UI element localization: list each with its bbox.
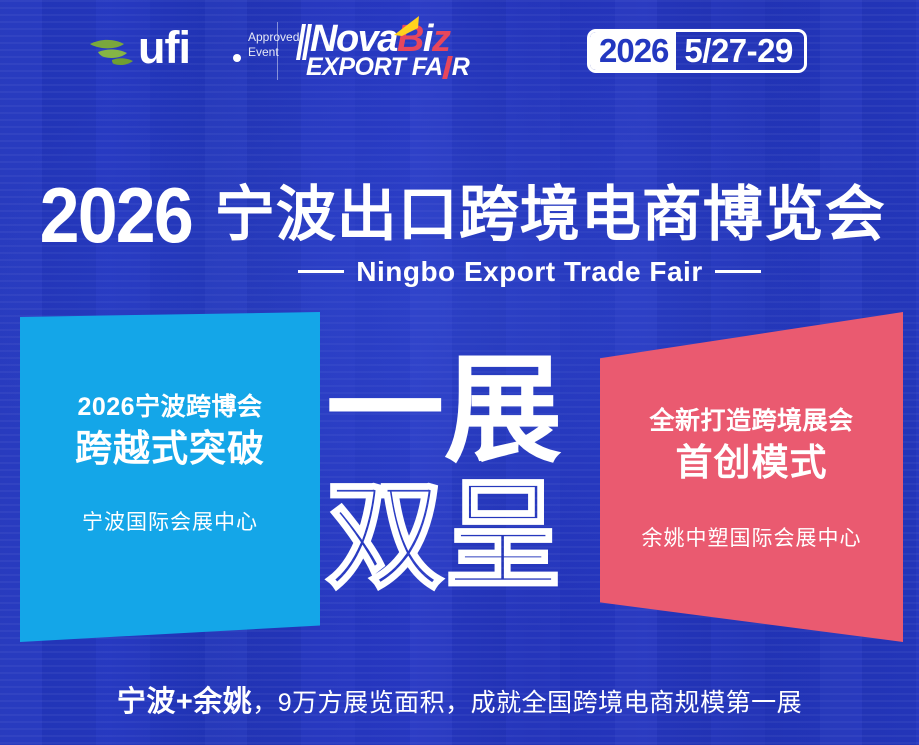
title-row: 2026 宁波出口跨境电商博览会: [0, 180, 919, 252]
header-divider: [277, 22, 278, 80]
footer-rest: ，9万方展览面积，成就全国跨境电商规模第一展: [252, 689, 802, 717]
novabiz-export-fa-text: EXPORT FA: [306, 53, 443, 81]
ufi-logo-mark: ufi Approved Event: [88, 29, 263, 73]
center-slogan: 一展 双呈: [326, 352, 598, 630]
ufi-tagline: Approved Event: [248, 30, 299, 60]
banner-footer: 宁波+余姚，9万方展览面积，成就全国跨境电商规模第一展: [0, 678, 919, 720]
left-panel-venue: 宁波国际会展中心: [82, 510, 258, 535]
event-date-badge: 2026 5/27-29: [587, 29, 807, 73]
venue-panel-ningbo: 2026宁波跨博会 跨越式突破 宁波国际会展中心: [20, 312, 320, 642]
subtitle-rule-right: [715, 270, 761, 273]
title-chinese: 宁波出口跨境电商博览会: [215, 183, 886, 246]
novabiz-yellow-flag-icon: [392, 16, 420, 36]
novabiz-subtitle: EXPORT FAR: [306, 55, 469, 80]
right-panel-venue: 余姚中塑国际会展中心: [642, 526, 862, 551]
title-year: 2026: [40, 180, 192, 252]
date-badge-range: 5/27-29: [676, 32, 803, 70]
ufi-dot-icon: [233, 54, 241, 62]
right-panel-line1: 全新打造跨境展会: [649, 406, 853, 436]
main-title-block: 2026 宁波出口跨境电商博览会 Ningbo Export Trade Fai…: [0, 180, 919, 288]
left-panel-line1: 2026宁波跨博会: [77, 392, 262, 422]
ufi-approved-event-logo: ufi Approved Event: [88, 29, 263, 73]
venue-panel-yuyao: 全新打造跨境展会 首创模式 余姚中塑国际会展中心: [600, 312, 903, 642]
footer-tagline: 宁波+余姚，9万方展览面积，成就全国跨境电商规模第一展: [0, 678, 919, 720]
promo-banner: ufi Approved Event NovaBiz EXPORT FAR 20…: [0, 0, 919, 745]
subtitle-rule-left: [298, 270, 344, 273]
novabiz-r-letter: R: [452, 53, 470, 81]
novabiz-export-fair-logo: NovaBiz EXPORT FAR: [296, 20, 476, 82]
left-panel-line2: 跨越式突破: [75, 426, 265, 472]
title-english: Ningbo Export Trade Fair: [356, 256, 702, 288]
title-subtitle-row: Ningbo Export Trade Fair: [0, 256, 919, 288]
banner-header: ufi Approved Event NovaBiz EXPORT FAR 20…: [0, 0, 919, 100]
slogan-line-top: 一展: [326, 352, 598, 470]
date-badge-year: 2026: [590, 32, 676, 70]
ufi-wordmark: ufi: [138, 25, 190, 70]
ufi-tagline-line1: Approved: [248, 30, 299, 45]
ufi-tagline-line2: Event: [248, 45, 299, 60]
footer-highlight: 宁波+余姚: [117, 686, 252, 718]
right-panel-line2: 首创模式: [676, 440, 828, 486]
slogan-line-bottom: 双呈: [326, 478, 598, 596]
